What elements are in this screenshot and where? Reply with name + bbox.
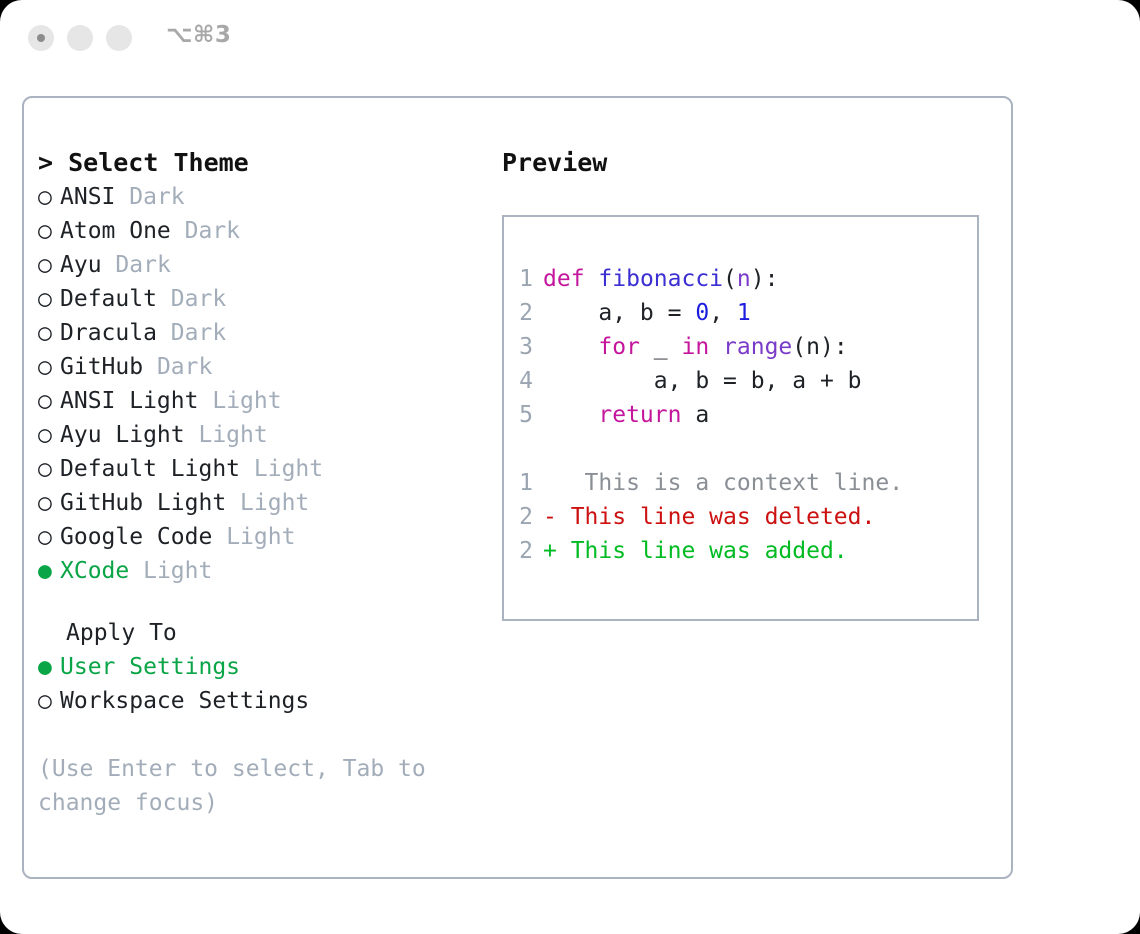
apply-to-option[interactable]: ●User Settings	[38, 650, 486, 684]
theme-category: Dark	[171, 320, 226, 346]
apply-to-section: Apply To ●User Settings○Workspace Settin…	[38, 616, 486, 718]
radio-unselected-icon: ○	[38, 350, 60, 384]
theme-category: Light	[212, 388, 281, 414]
theme-list: ○ANSI Dark○Atom One Dark○Ayu Dark○Defaul…	[38, 180, 486, 588]
code-line-number: 5	[513, 398, 533, 432]
spacer	[157, 286, 171, 312]
spacer	[240, 456, 254, 482]
radio-unselected-icon: ○	[38, 248, 60, 282]
code-token: return	[598, 402, 681, 428]
radio-unselected-icon: ○	[38, 418, 60, 452]
theme-list-item[interactable]: ○GitHub Dark	[38, 350, 486, 384]
code-line-number: 3	[513, 330, 533, 364]
code-token: in	[681, 334, 709, 360]
diff-marker	[543, 470, 557, 496]
theme-name: ANSI	[60, 184, 115, 210]
preview-column: Preview 1def fibonacci(n):2 a, b = 0, 13…	[502, 146, 997, 621]
theme-list-item[interactable]: ○Google Code Light	[38, 520, 486, 554]
diff-line-number: 2	[513, 534, 533, 568]
theme-category: Light	[198, 422, 267, 448]
code-token	[543, 402, 598, 428]
spacer	[157, 320, 171, 346]
radio-selected-icon: ●	[38, 554, 60, 588]
spacer	[212, 524, 226, 550]
code-line-number: 2	[513, 296, 533, 330]
apply-to-option[interactable]: ○Workspace Settings	[38, 684, 486, 718]
code-token: range	[723, 334, 792, 360]
code-token: 0	[695, 300, 709, 326]
diff-marker: +	[543, 538, 557, 564]
code-token: (	[723, 266, 737, 292]
window-controls	[28, 25, 132, 51]
theme-list-item[interactable]: ○Dracula Dark	[38, 316, 486, 350]
diff-line: 1 This is a context line.	[513, 466, 971, 500]
code-preview: 1def fibonacci(n):2 a, b = 0, 13 for _ i…	[513, 262, 971, 568]
theme-list-item[interactable]: ●XCode Light	[38, 554, 486, 588]
radio-unselected-icon: ○	[38, 214, 60, 248]
theme-category: Light	[254, 456, 323, 482]
theme-name: ANSI Light	[60, 388, 198, 414]
code-token: a, b = b, a + b	[543, 368, 862, 394]
theme-list-item[interactable]: ○Ayu Light Light	[38, 418, 486, 452]
radio-unselected-icon: ○	[38, 684, 60, 718]
radio-unselected-icon: ○	[38, 180, 60, 214]
theme-name: Ayu Light	[60, 422, 185, 448]
app-window: ⌥⌘3 > Select Theme ○ANSI Dark○Atom One D…	[0, 0, 1140, 934]
code-line: 3 for _ in range(n):	[513, 330, 971, 364]
code-line: 4 a, b = b, a + b	[513, 364, 971, 398]
code-token	[543, 334, 598, 360]
diff-text: This is a context line.	[557, 470, 903, 496]
code-token: (n):	[792, 334, 847, 360]
radio-selected-icon: ●	[38, 650, 60, 684]
theme-name: Dracula	[60, 320, 157, 346]
theme-name: Ayu	[60, 252, 102, 278]
code-line: 1def fibonacci(n):	[513, 262, 971, 296]
theme-category: Dark	[157, 354, 212, 380]
window-dot-active-inner	[37, 34, 45, 42]
theme-list-item[interactable]: ○ANSI Dark	[38, 180, 486, 214]
theme-name: Atom One	[60, 218, 171, 244]
code-lines: 1def fibonacci(n):2 a, b = 0, 13 for _ i…	[513, 262, 971, 432]
theme-category: Light	[143, 558, 212, 584]
radio-unselected-icon: ○	[38, 452, 60, 486]
apply-to-options: ●User Settings○Workspace Settings	[38, 650, 486, 718]
theme-category: Dark	[185, 218, 240, 244]
code-token: a, b =	[543, 300, 695, 326]
window-dot-second[interactable]	[67, 25, 93, 51]
diff-text: This line was deleted.	[557, 504, 876, 530]
code-token: _	[640, 334, 682, 360]
spacer	[143, 354, 157, 380]
theme-name: Default	[60, 286, 157, 312]
code-token: for	[598, 334, 640, 360]
spacer	[198, 388, 212, 414]
theme-list-item[interactable]: ○GitHub Light Light	[38, 486, 486, 520]
theme-category: Dark	[115, 252, 170, 278]
window-dot-third[interactable]	[106, 25, 132, 51]
diff-text: This line was added.	[557, 538, 848, 564]
main-panel: > Select Theme ○ANSI Dark○Atom One Dark○…	[22, 96, 1013, 879]
diff-line-number: 1	[513, 466, 533, 500]
code-token	[709, 334, 723, 360]
code-line: 2 a, b = 0, 1	[513, 296, 971, 330]
code-line-number: 4	[513, 364, 533, 398]
theme-selector-column: > Select Theme ○ANSI Dark○Atom One Dark○…	[38, 146, 486, 820]
diff-line-number: 2	[513, 500, 533, 534]
spacer	[226, 490, 240, 516]
theme-name: GitHub Light	[60, 490, 226, 516]
spacer	[115, 184, 129, 210]
theme-list-item[interactable]: ○Atom One Dark	[38, 214, 486, 248]
code-diff-spacer	[513, 432, 971, 466]
preview-title: Preview	[502, 146, 997, 180]
code-line-number: 1	[513, 262, 533, 296]
theme-category: Dark	[171, 286, 226, 312]
code-token	[585, 266, 599, 292]
select-theme-header: > Select Theme	[38, 146, 486, 180]
code-token: def	[543, 266, 585, 292]
code-token: 1	[737, 300, 751, 326]
keyboard-hint-text: (Use Enter to select, Tab to change focu…	[38, 752, 448, 820]
diff-line: 2- This line was deleted.	[513, 500, 971, 534]
code-token: ,	[709, 300, 737, 326]
theme-name: GitHub	[60, 354, 143, 380]
radio-unselected-icon: ○	[38, 520, 60, 554]
keyboard-shortcut-label: ⌥⌘3	[166, 22, 231, 48]
radio-unselected-icon: ○	[38, 486, 60, 520]
theme-category: Light	[226, 524, 295, 550]
code-token: a	[681, 402, 709, 428]
theme-category: Light	[240, 490, 309, 516]
theme-list-item[interactable]: ○Default Light Light	[38, 452, 486, 486]
code-line: 5 return a	[513, 398, 971, 432]
theme-list-item[interactable]: ○Ayu Dark	[38, 248, 486, 282]
diff-line: 2+ This line was added.	[513, 534, 971, 568]
theme-list-item[interactable]: ○Default Dark	[38, 282, 486, 316]
title-bar: ⌥⌘3	[0, 0, 1140, 78]
spacer	[129, 558, 143, 584]
apply-to-header: Apply To	[38, 616, 486, 650]
preview-box: 1def fibonacci(n):2 a, b = 0, 13 for _ i…	[502, 215, 979, 621]
theme-name: Google Code	[60, 524, 212, 550]
spacer	[185, 422, 199, 448]
spacer	[102, 252, 116, 278]
theme-name: Default Light	[60, 456, 240, 482]
theme-list-item[interactable]: ○ANSI Light Light	[38, 384, 486, 418]
code-token: fibonacci	[598, 266, 723, 292]
radio-unselected-icon: ○	[38, 316, 60, 350]
radio-unselected-icon: ○	[38, 282, 60, 316]
theme-category: Dark	[129, 184, 184, 210]
apply-to-option-label: User Settings	[60, 654, 240, 680]
apply-to-option-label: Workspace Settings	[60, 688, 309, 714]
diff-marker: -	[543, 504, 557, 530]
diff-lines: 1 This is a context line.2- This line wa…	[513, 466, 971, 568]
theme-name: XCode	[60, 558, 129, 584]
window-dot-active[interactable]	[28, 25, 54, 51]
code-token: ):	[751, 266, 779, 292]
radio-unselected-icon: ○	[38, 384, 60, 418]
code-token: n	[737, 266, 751, 292]
spacer	[171, 218, 185, 244]
